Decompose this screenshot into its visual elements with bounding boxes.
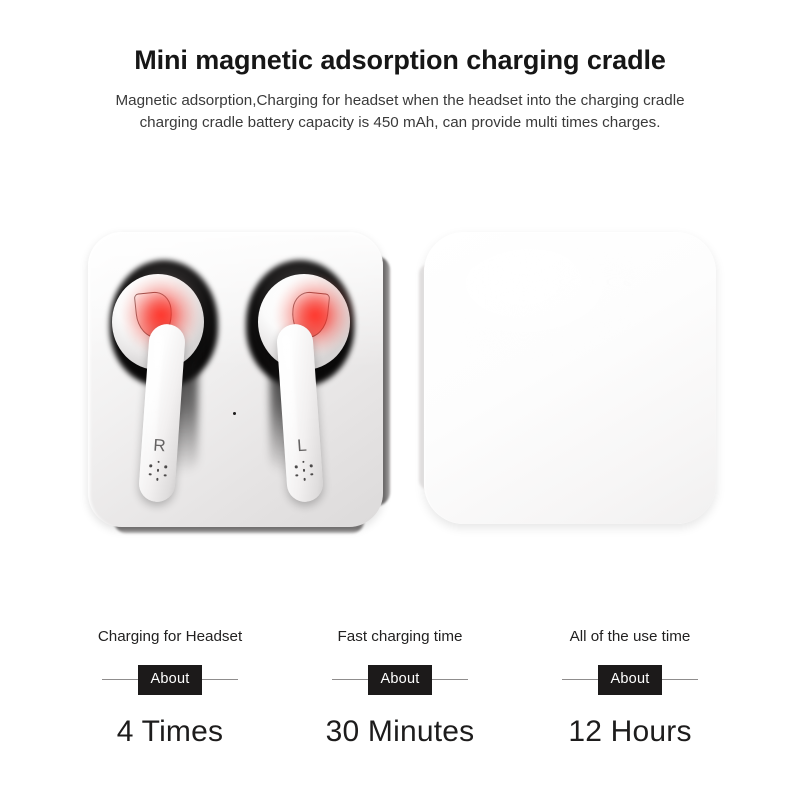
- closed-case-sheen: [442, 241, 646, 358]
- product-image-area: R L: [0, 210, 800, 580]
- feature-all-of-the-use-time: All of the use time About 12 Hours: [524, 628, 736, 749]
- open-charging-case: R L: [88, 232, 383, 527]
- subtitle-line-1: Magnetic adsorption,Charging for headset…: [0, 90, 800, 112]
- feature-label: All of the use time: [524, 628, 736, 646]
- case-interior: R L: [88, 232, 383, 527]
- divider-rule-right: [202, 679, 238, 680]
- earbud-label-right: R: [141, 436, 178, 455]
- earbud-left: L: [240, 262, 358, 510]
- divider-rule-left: [102, 679, 138, 680]
- microphone-grille-icon-left: [292, 459, 315, 482]
- microphone-grille-icon-right: [146, 459, 169, 482]
- page-title: Mini magnetic adsorption charging cradle: [0, 44, 800, 78]
- feature-value: 12 Hours: [524, 715, 736, 749]
- feature-specs-row: Charging for Headset About 4 Times Fast …: [0, 628, 800, 749]
- closed-case-body: [424, 232, 716, 524]
- case-led-indicator-icon: [233, 412, 236, 415]
- feature-fast-charging-time: Fast charging time About 30 Minutes: [294, 628, 506, 749]
- earbud-label-left: L: [284, 436, 321, 455]
- feature-label: Charging for Headset: [64, 628, 276, 646]
- divider-rule-right: [662, 679, 698, 680]
- header: Mini magnetic adsorption charging cradle…: [0, 44, 800, 134]
- page-subtitle: Magnetic adsorption,Charging for headset…: [0, 90, 800, 134]
- product-marketing-page: Mini magnetic adsorption charging cradle…: [0, 0, 800, 804]
- divider-rule-left: [562, 679, 598, 680]
- subtitle-line-2: charging cradle battery capacity is 450 …: [0, 112, 800, 134]
- feature-value: 4 Times: [64, 715, 276, 749]
- earbud-right: R: [106, 262, 224, 510]
- divider-rule-left: [332, 679, 368, 680]
- about-badge: About: [138, 665, 203, 695]
- feature-divider: About: [294, 665, 506, 695]
- feature-divider: About: [524, 665, 736, 695]
- about-badge: About: [598, 665, 663, 695]
- closed-charging-case: [424, 232, 716, 524]
- feature-divider: About: [64, 665, 276, 695]
- feature-value: 30 Minutes: [294, 715, 506, 749]
- feature-charging-for-headset: Charging for Headset About 4 Times: [64, 628, 276, 749]
- about-badge: About: [368, 665, 433, 695]
- feature-label: Fast charging time: [294, 628, 506, 646]
- divider-rule-right: [432, 679, 468, 680]
